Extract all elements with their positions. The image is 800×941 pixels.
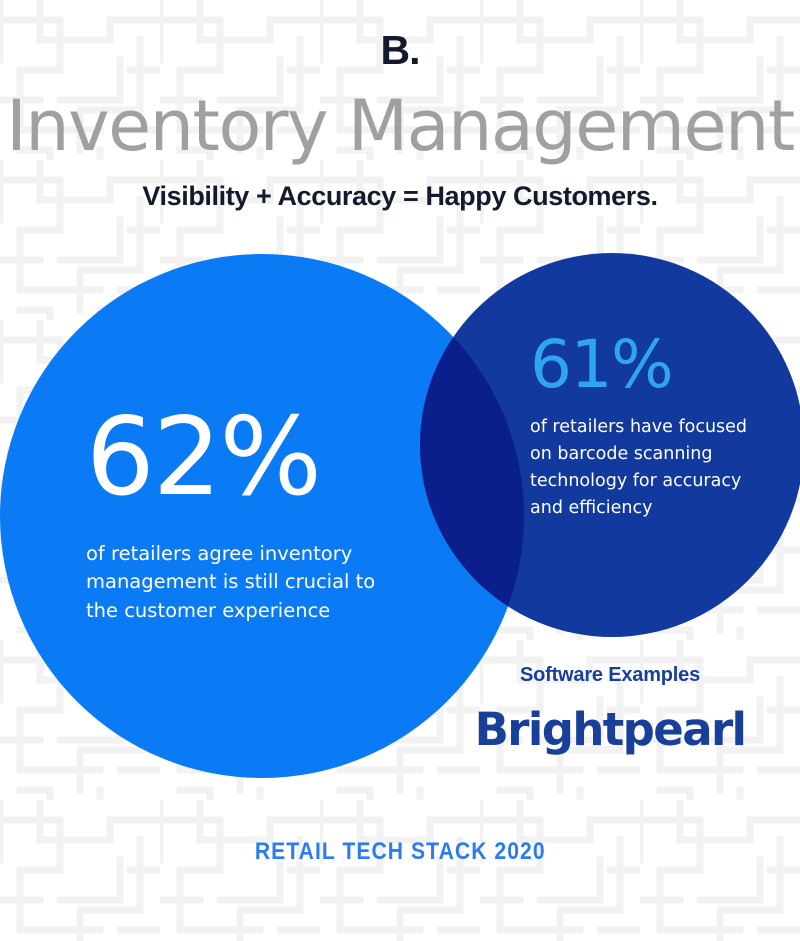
footer: RETAIL TECH STACK 2020: [0, 840, 800, 864]
software-examples-label: Software Examples: [430, 665, 790, 685]
footer-caption: RETAIL TECH STACK 2020: [255, 840, 546, 864]
software-examples-block: Software Examples Brightpearl: [430, 665, 790, 752]
stat-percent-right: 61%: [530, 332, 760, 398]
infographic-canvas: B. Inventory Management Visibility + Acc…: [0, 0, 800, 941]
brightpearl-logo: Brightpearl: [430, 707, 790, 752]
stat-description-left: of retailers agree inventory management …: [86, 540, 396, 625]
stat-block-left: 62% of retailers agree inventory managem…: [86, 404, 396, 625]
header: B. Inventory Management Visibility + Acc…: [0, 0, 800, 210]
section-letter-badge: B.: [0, 30, 800, 71]
page-title: Inventory Management: [0, 91, 800, 161]
stat-percent-left: 62%: [86, 404, 396, 512]
stat-description-right: of retailers have focused on barcode sca…: [530, 414, 760, 522]
page-subtitle: Visibility + Accuracy = Happy Customers.: [0, 183, 800, 210]
stat-block-right: 61% of retailers have focused on barcode…: [530, 332, 760, 522]
